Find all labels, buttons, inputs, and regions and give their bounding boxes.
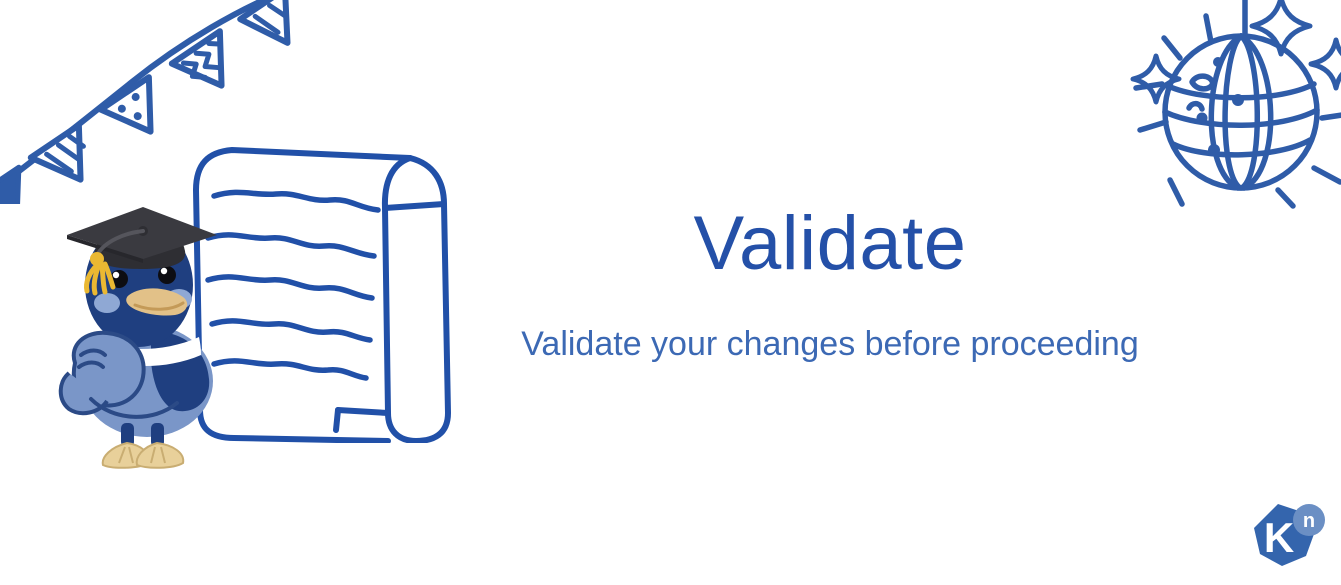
- page-subtitle: Validate your changes before proceeding: [460, 325, 1200, 364]
- kn-logo: K n: [1248, 500, 1330, 572]
- party-bunting-banner-icon: [0, 0, 322, 204]
- slide-text-block: Validate Validate your changes before pr…: [460, 205, 1200, 364]
- disco-ball-icon: [1118, 0, 1341, 230]
- graduate-bird-mascot-icon: [55, 185, 235, 470]
- slide-canvas: Validate Validate your changes before pr…: [0, 0, 1341, 585]
- logo-primary-letter: K: [1264, 514, 1294, 561]
- paper-scroll-icon: [178, 138, 468, 443]
- page-title: Validate: [460, 205, 1200, 283]
- logo-badge-letter: n: [1303, 510, 1315, 532]
